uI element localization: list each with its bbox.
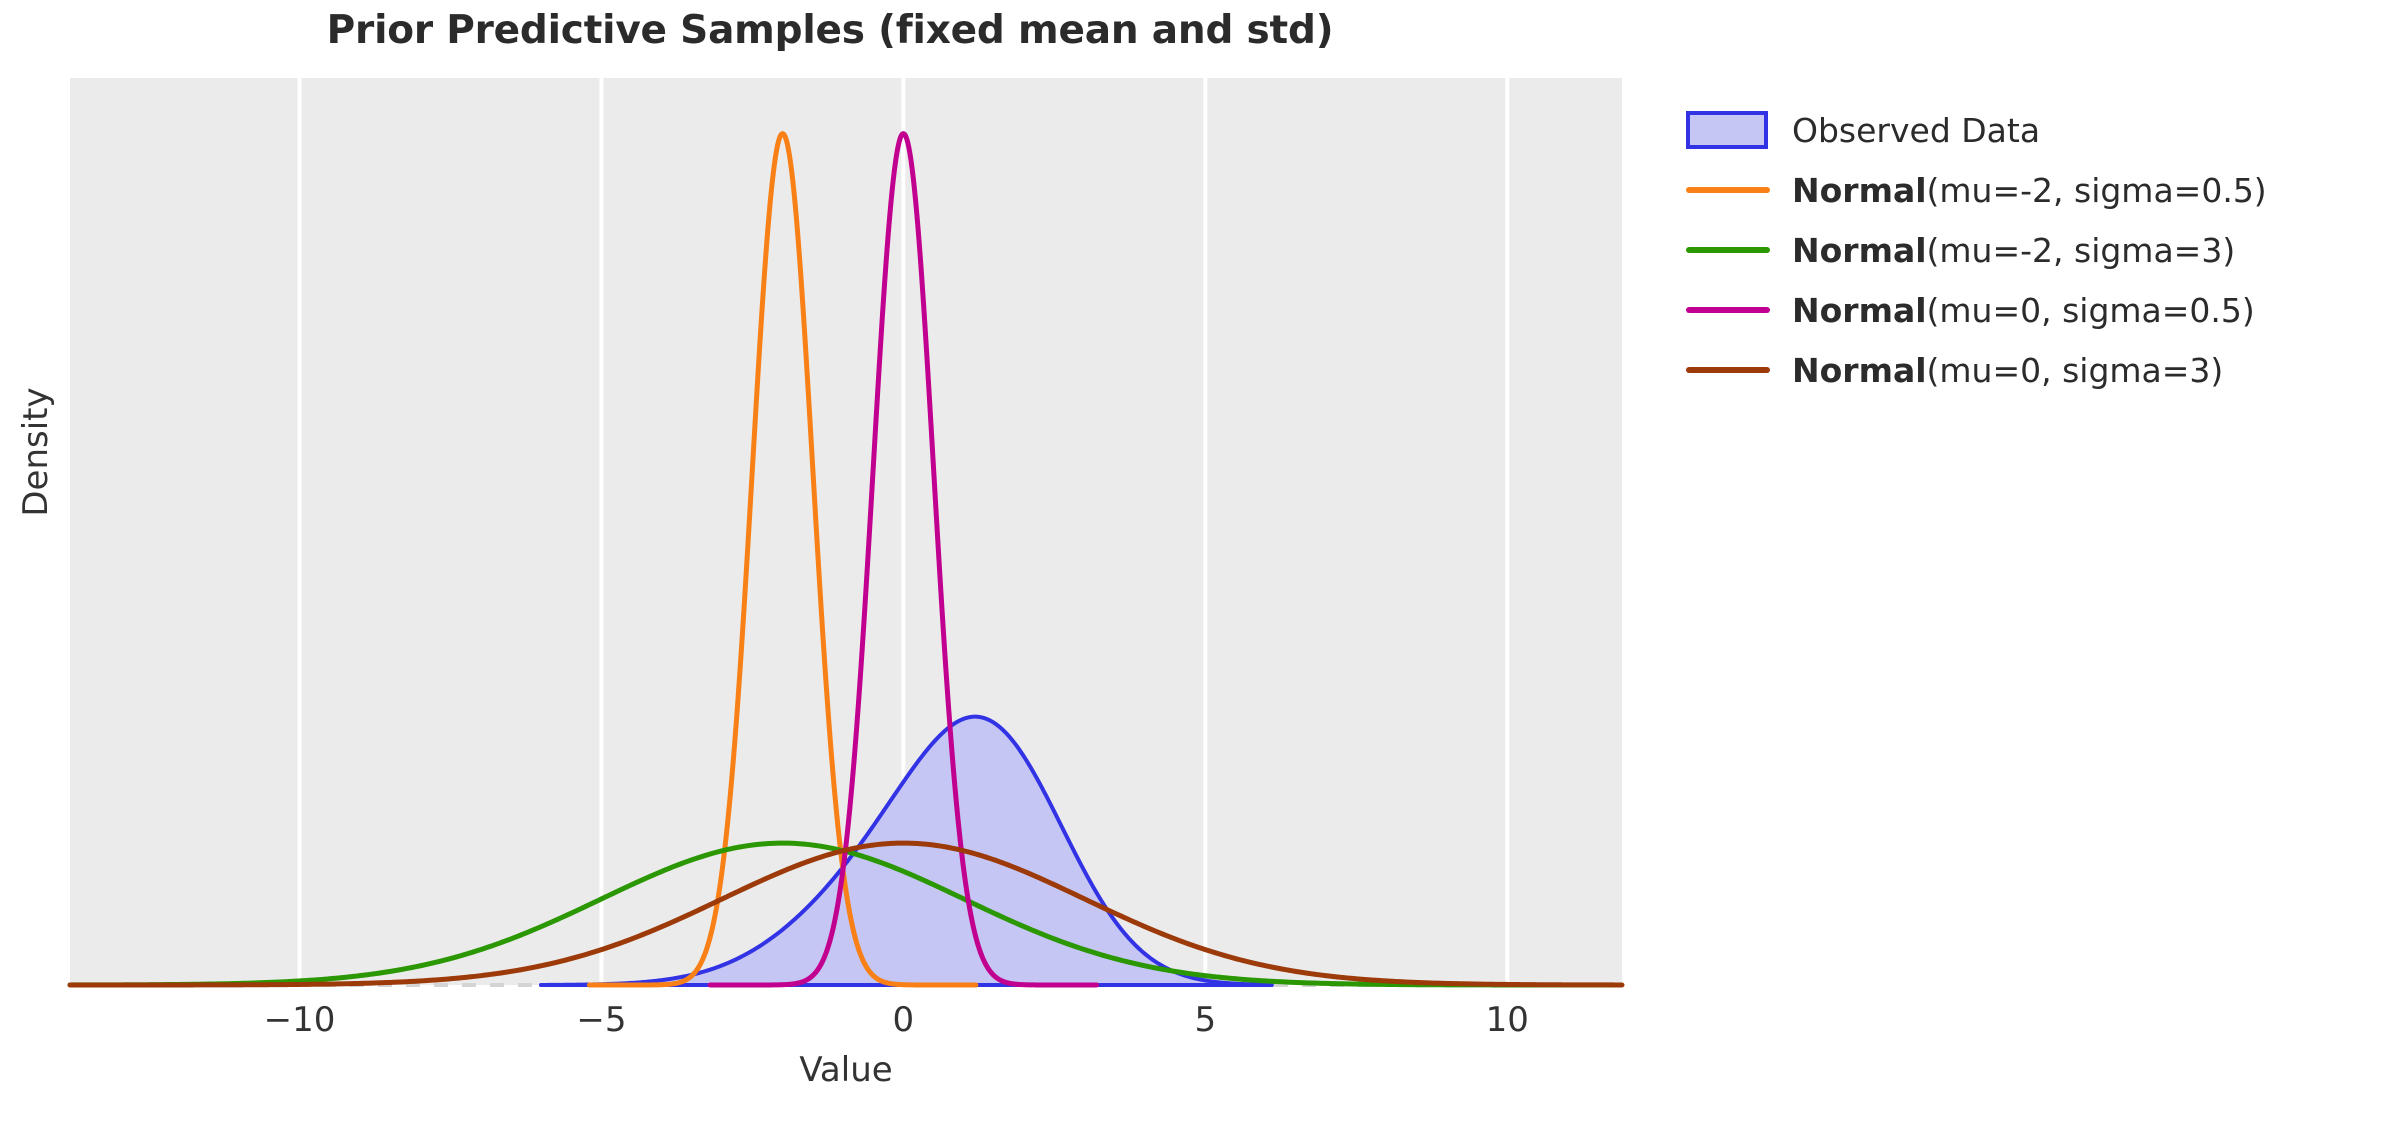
legend-line-swatch (1686, 187, 1770, 193)
legend-item[interactable]: Normal(mu=0, sigma=0.5) (1686, 280, 2366, 340)
x-tick-label: −10 (219, 1000, 379, 1040)
legend-label-rest: (mu=0, sigma=0.5) (1927, 291, 2255, 330)
legend-label-bold: Normal (1792, 351, 1927, 390)
legend-item[interactable]: Observed Data (1686, 100, 2366, 160)
legend-key-patch (1686, 108, 1770, 152)
x-axis-label: Value (70, 1050, 1622, 1090)
legend-patch-swatch (1686, 111, 1768, 149)
legend-label-rest: Observed Data (1792, 111, 2040, 150)
legend-key-line (1686, 348, 1770, 392)
legend-key-line (1686, 288, 1770, 332)
figure-canvas: Prior Predictive Samples (fixed mean and… (0, 0, 2389, 1122)
legend-line-swatch (1686, 367, 1770, 373)
legend-item[interactable]: Normal(mu=0, sigma=3) (1686, 340, 2366, 400)
legend-item-label: Normal(mu=0, sigma=3) (1792, 351, 2223, 390)
legend-item[interactable]: Normal(mu=-2, sigma=0.5) (1686, 160, 2366, 220)
legend-item-label: Observed Data (1792, 111, 2040, 150)
x-tick-label: 10 (1427, 1000, 1587, 1040)
legend-label-bold: Normal (1792, 171, 1927, 210)
x-tick-label: −5 (521, 1000, 681, 1040)
legend-label-rest: (mu=-2, sigma=0.5) (1927, 171, 2267, 210)
chart-legend: Observed DataNormal(mu=-2, sigma=0.5)Nor… (1686, 100, 2366, 400)
legend-label-bold: Normal (1792, 231, 1927, 270)
legend-item-label: Normal(mu=0, sigma=0.5) (1792, 291, 2255, 330)
legend-key-line (1686, 168, 1770, 212)
legend-label-rest: (mu=-2, sigma=3) (1927, 231, 2236, 270)
legend-label-rest: (mu=0, sigma=3) (1927, 351, 2224, 390)
legend-item-label: Normal(mu=-2, sigma=3) (1792, 231, 2235, 270)
legend-line-swatch (1686, 307, 1770, 313)
x-tick-label: 0 (823, 1000, 983, 1040)
legend-item[interactable]: Normal(mu=-2, sigma=3) (1686, 220, 2366, 280)
x-tick-label: 5 (1125, 1000, 1285, 1040)
y-axis-label: Density (16, 332, 56, 572)
legend-label-bold: Normal (1792, 291, 1927, 330)
legend-line-swatch (1686, 247, 1770, 253)
legend-key-line (1686, 228, 1770, 272)
legend-item-label: Normal(mu=-2, sigma=0.5) (1792, 171, 2267, 210)
